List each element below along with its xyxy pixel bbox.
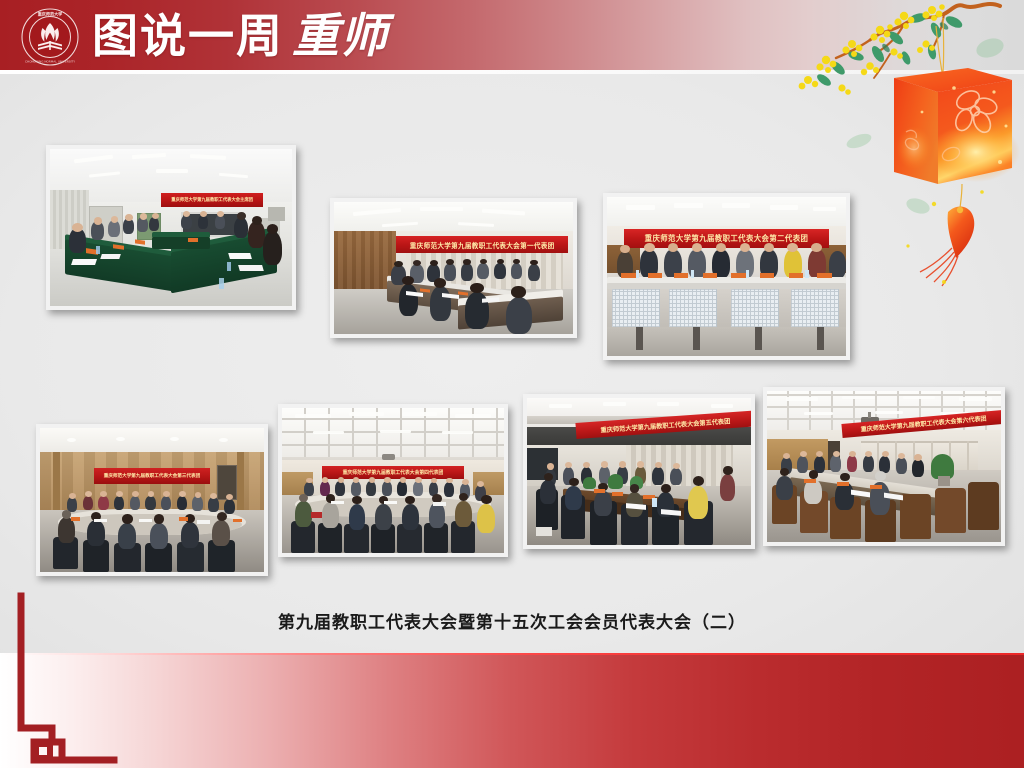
page-title: 图说一周 重师 (92, 4, 388, 68)
photo-3-banner: 重庆师范大学第九届教职工代表大会第二代表团 (624, 229, 830, 248)
photo-delegation-group-three[interactable]: 重庆师范大学第九届教职工代表大会第三代表团 (36, 424, 268, 576)
photo-delegation-group-two[interactable]: 重庆师范大学第九届教职工代表大会第二代表团 (603, 193, 850, 360)
photo-delegation-group-four[interactable]: 重庆师范大学第九届教职工代表大会第四代表团 (278, 404, 508, 557)
svg-text:重庆师范大学: 重庆师范大学 (38, 11, 63, 17)
chongqing-normal-university-seal-icon: 重庆师范大学 CHONGQING NORMAL UNIVERSITY (20, 7, 80, 67)
photo-delegation-group-one[interactable]: 重庆师范大学第九届教职工代表大会第一代表团 (330, 198, 577, 338)
svg-text:CHONGQING NORMAL UNIVERSITY: CHONGQING NORMAL UNIVERSITY (25, 59, 75, 63)
title-cursive: 重师 (292, 13, 388, 60)
photo-delegation-group-five[interactable]: 重庆师范大学第九届教职工代表大会第五代表团 (523, 394, 755, 549)
photo-4-banner: 重庆师范大学第九届教职工代表大会第三代表团 (94, 468, 210, 484)
slide-canvas: 重庆师范大学 CHONGQING NORMAL UNIVERSITY 图说一周 … (0, 0, 1024, 768)
photo-1-banner: 重庆师范大学第九届教职工代表大会主席团 (161, 193, 263, 207)
chinese-corner-ornament-icon (14, 592, 124, 768)
title-main: 图说一周 (92, 13, 284, 59)
photo-2-banner: 重庆师范大学第九届教职工代表大会第一代表团 (396, 236, 568, 253)
bottom-band (0, 655, 1024, 768)
slide-caption: 第九届教职工代表大会暨第十五次工会会员代表大会（二） (0, 608, 1024, 633)
photo-conference-room-green-table[interactable]: 重庆师范大学第九届教职工代表大会主席团 (46, 145, 296, 310)
photo-delegation-group-six[interactable]: 重庆师范大学第九届教职工代表大会第六代表团 (763, 387, 1005, 546)
